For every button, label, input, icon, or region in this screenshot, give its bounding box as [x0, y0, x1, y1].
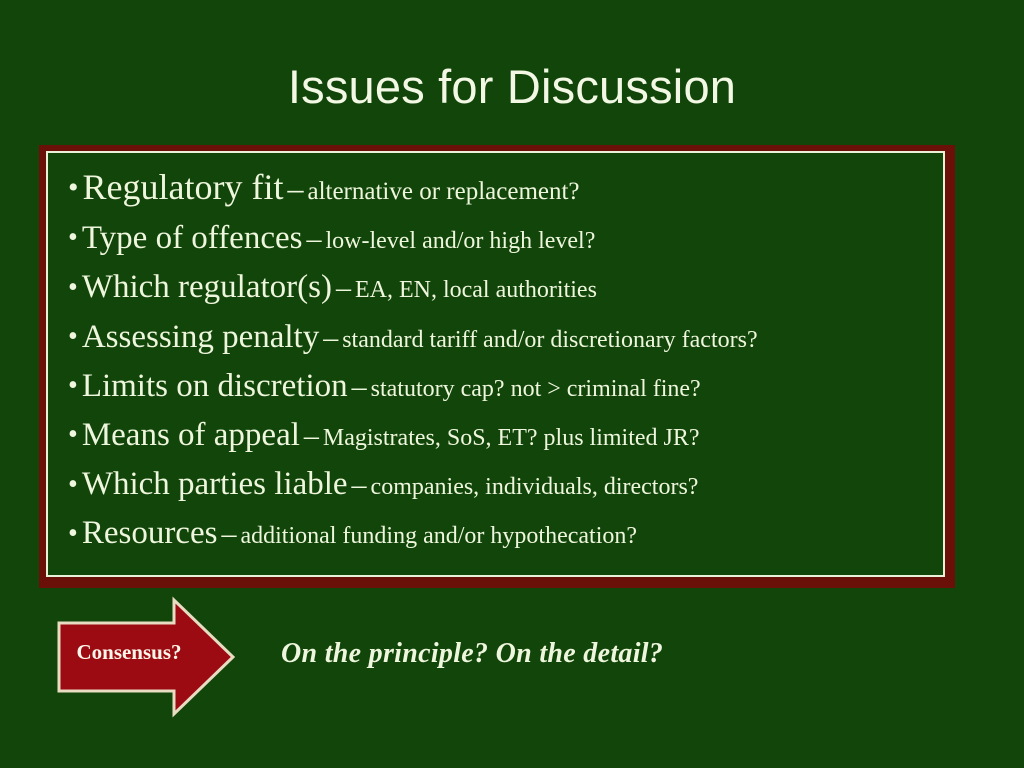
right-arrow-icon [56, 596, 236, 718]
footnote-text: On the principle? On the detail? [281, 638, 663, 670]
bullet-head: Which parties liable [82, 466, 348, 502]
bullet-tail: alternative or replacement? [307, 178, 579, 205]
bullet-tail: EA, EN, local authorities [355, 277, 597, 303]
bullet-head: Resources [82, 515, 218, 551]
bullet-marker-icon: • [68, 372, 78, 400]
bullet-marker-icon: • [68, 173, 79, 203]
bullet-head: Type of offences [82, 220, 303, 256]
bullet-head: Assessing penalty [82, 319, 319, 355]
list-item: • Means of appeal – Magistrates, SoS, ET… [68, 414, 948, 456]
bullet-tail: Magistrates, SoS, ET? plus limited JR? [323, 425, 700, 451]
list-item: • Which parties liable – companies, indi… [68, 463, 948, 505]
list-item: • Type of offences – low-level and/or hi… [68, 217, 948, 259]
list-item: • Which regulator(s) – EA, EN, local aut… [68, 266, 948, 308]
consensus-callout: Consensus? [56, 596, 236, 718]
bullet-head: Which regulator(s) [82, 269, 332, 305]
bullet-dash: – [306, 222, 321, 255]
bullet-dash: – [352, 370, 367, 403]
list-item: • Regulatory fit – alternative or replac… [68, 164, 948, 210]
bullet-marker-icon: • [68, 471, 78, 499]
bullet-tail: standard tariff and/or discretionary fac… [342, 327, 757, 353]
bullet-head: Limits on discretion [82, 368, 348, 404]
bullet-list: • Regulatory fit – alternative or replac… [68, 164, 948, 562]
slide-canvas: Issues for Discussion • Regulatory fit –… [0, 0, 1024, 768]
bullet-dash: – [323, 321, 338, 354]
bullet-marker-icon: • [68, 274, 78, 302]
list-item: • Limits on discretion – statutory cap? … [68, 365, 948, 407]
bullet-dash: – [287, 170, 303, 206]
list-item: • Resources – additional funding and/or … [68, 512, 948, 554]
bullet-tail: low-level and/or high level? [325, 228, 595, 254]
bullet-tail: companies, individuals, directors? [371, 474, 699, 500]
bullet-head: Regulatory fit [83, 167, 284, 207]
bullet-marker-icon: • [68, 323, 78, 351]
page-title: Issues for Discussion [0, 62, 1024, 111]
bullet-dash: – [336, 271, 351, 304]
bullet-head: Means of appeal [82, 417, 300, 453]
bullet-tail: additional funding and/or hypothecation? [240, 523, 637, 549]
bullet-marker-icon: • [68, 224, 78, 252]
bullet-tail: statutory cap? not > criminal fine? [371, 376, 701, 402]
bullet-dash: – [352, 468, 367, 501]
bullet-dash: – [304, 419, 319, 452]
bullet-marker-icon: • [68, 421, 78, 449]
bullet-marker-icon: • [68, 520, 78, 548]
list-item: • Assessing penalty – standard tariff an… [68, 316, 948, 358]
bullet-dash: – [221, 517, 236, 550]
